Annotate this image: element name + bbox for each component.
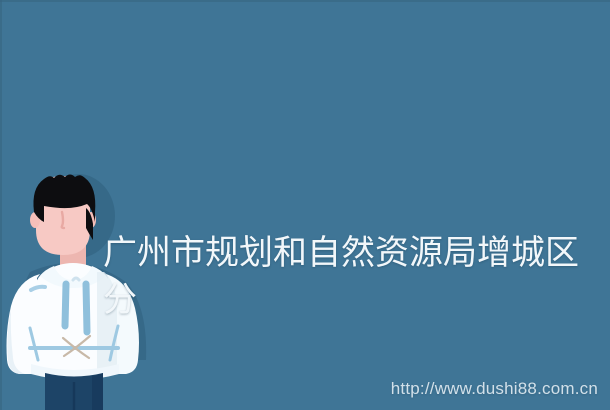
pants-shade [92, 373, 103, 410]
watermark-url: http://www.dushi88.com.cn [391, 379, 598, 399]
banner-image: 广州市规划和自然资源局增城区分 局国有建设用地使用权网上挂牌出 http://w… [0, 0, 610, 410]
headline-line-1: 广州市规划和自然资源局增城区分 [103, 230, 595, 324]
page-title: 广州市规划和自然资源局增城区分 局国有建设用地使用权网上挂牌出 [103, 136, 595, 410]
top-edge-line [0, 0, 610, 2]
